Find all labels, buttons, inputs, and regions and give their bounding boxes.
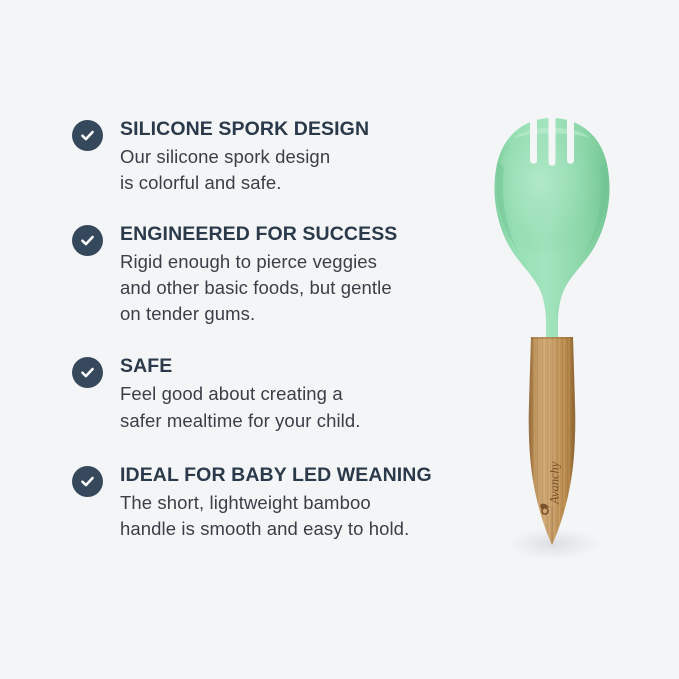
infographic-page: SILICONE SPORK DESIGN Our silicone spork… bbox=[0, 0, 679, 679]
spork-bamboo-handle bbox=[529, 337, 575, 545]
check-circle-icon bbox=[72, 225, 103, 256]
feature-item-silicone-spork-design: SILICONE SPORK DESIGN Our silicone spork… bbox=[72, 118, 472, 197]
feature-title: ENGINEERED FOR SUCCESS bbox=[120, 223, 472, 246]
feature-description: Rigid enough to pierce veggies and other… bbox=[120, 249, 472, 328]
feature-description: The short, lightweight bamboo handle is … bbox=[120, 490, 472, 543]
brand-logo-text: Avanchy bbox=[548, 461, 562, 505]
feature-description-line: Feel good about creating a bbox=[120, 381, 472, 407]
check-circle-icon bbox=[72, 120, 103, 151]
feature-title: SAFE bbox=[120, 355, 472, 378]
feature-description-line: handle is smooth and easy to hold. bbox=[120, 516, 472, 542]
feature-description-line: The short, lightweight bamboo bbox=[120, 490, 472, 516]
feature-item-ideal-for-baby-led-weaning: IDEAL FOR BABY LED WEANING The short, li… bbox=[72, 464, 472, 543]
feature-description-line: is colorful and safe. bbox=[120, 170, 472, 196]
feature-description-line: and other basic foods, but gentle bbox=[120, 275, 472, 301]
feature-description-line: Rigid enough to pierce veggies bbox=[120, 249, 472, 275]
check-circle-icon bbox=[72, 466, 103, 497]
feature-description-line: Our silicone spork design bbox=[120, 144, 472, 170]
spork-silicone-head bbox=[494, 106, 610, 340]
feature-description: Our silicone spork design is colorful an… bbox=[120, 144, 472, 197]
feature-list: SILICONE SPORK DESIGN Our silicone spork… bbox=[72, 118, 472, 542]
feature-title: SILICONE SPORK DESIGN bbox=[120, 118, 472, 141]
tine-slot bbox=[549, 106, 556, 166]
feature-description: Feel good about creating a safer mealtim… bbox=[120, 381, 472, 434]
check-circle-icon bbox=[72, 357, 103, 388]
feature-item-engineered-for-success: ENGINEERED FOR SUCCESS Rigid enough to p… bbox=[72, 223, 472, 328]
feature-description-line: on tender gums. bbox=[120, 301, 472, 327]
product-image-bamboo-spork: Avanchy bbox=[462, 104, 642, 574]
feature-title: IDEAL FOR BABY LED WEANING bbox=[120, 464, 472, 487]
tine-slot bbox=[567, 110, 574, 164]
tine-slot bbox=[530, 110, 537, 164]
feature-item-safe: SAFE Feel good about creating a safer me… bbox=[72, 355, 472, 434]
spork-tine-slots bbox=[530, 106, 574, 166]
feature-description-line: safer mealtime for your child. bbox=[120, 408, 472, 434]
